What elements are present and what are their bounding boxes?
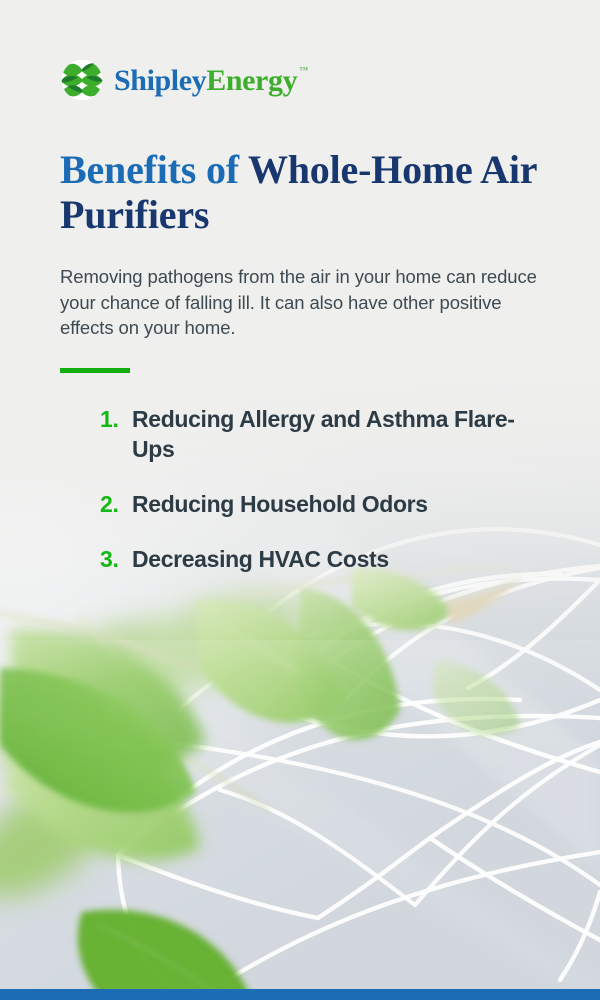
brand-logo[interactable]: ShipleyEnergy™ bbox=[60, 0, 540, 103]
infographic-poster: ShipleyEnergy™ Benefits of Whole-Home Ai… bbox=[0, 0, 600, 1000]
page-title: Benefits of Whole-Home Air Purifiers bbox=[60, 148, 540, 238]
list-item: 2. Reducing Household Odors bbox=[100, 490, 540, 520]
list-item: 1. Reducing Allergy and Asthma Flare-Ups bbox=[100, 405, 540, 465]
poster-content: ShipleyEnergy™ Benefits of Whole-Home Ai… bbox=[0, 0, 600, 575]
shipley-leaf-circle-logo-icon bbox=[60, 58, 104, 102]
brand-word-energy: Energy bbox=[206, 64, 297, 97]
list-item-label: Decreasing HVAC Costs bbox=[132, 545, 389, 575]
footer-accent-bar bbox=[0, 989, 600, 1000]
list-item-label: Reducing Allergy and Asthma Flare-Ups bbox=[132, 405, 540, 465]
intro-paragraph: Removing pathogens from the air in your … bbox=[60, 264, 540, 341]
brand-word-shipley: Shipley bbox=[114, 64, 206, 97]
list-item: 3. Decreasing HVAC Costs bbox=[100, 545, 540, 575]
list-item-number: 2. bbox=[100, 490, 132, 520]
trademark-symbol: ™ bbox=[299, 65, 307, 75]
green-divider bbox=[60, 368, 130, 373]
list-item-label: Reducing Household Odors bbox=[132, 490, 428, 520]
list-item-number: 3. bbox=[100, 545, 132, 575]
benefits-list: 1. Reducing Allergy and Asthma Flare-Ups… bbox=[60, 405, 540, 575]
brand-wordmark: ShipleyEnergy™ bbox=[114, 66, 308, 96]
page-title-light-part: Benefits of bbox=[60, 147, 248, 192]
list-item-number: 1. bbox=[100, 405, 132, 435]
